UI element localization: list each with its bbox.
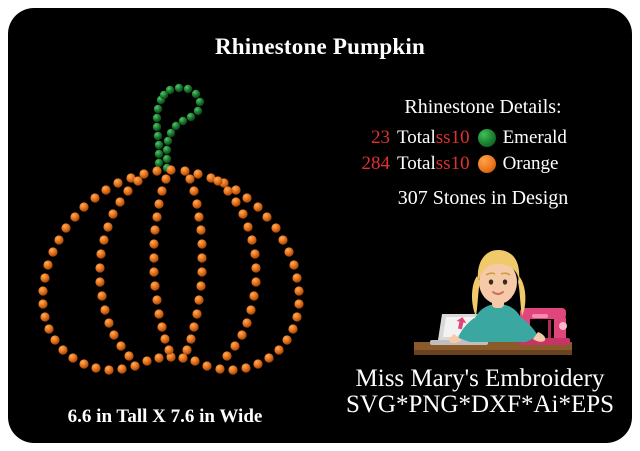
stone-row: 284 Total ss10 Orange [338, 153, 628, 175]
product-card: Rhinestone Pumpkin [8, 8, 632, 443]
stone-count: 23 [346, 127, 390, 149]
design-size-label: 6.6 in Tall X 7.6 in Wide [40, 406, 290, 428]
brand-block: Miss Mary's Embroidery SVG*PNG*DXF*Ai*EP… [330, 366, 630, 419]
details-heading: Rhinestone Details: [338, 96, 628, 119]
pumpkin-stem-stones [153, 84, 204, 172]
stone-row: 23 Total ss10 Emerald [338, 127, 628, 149]
stone-total-label: Total [397, 153, 436, 175]
stone-size: ss10 [436, 127, 470, 149]
stone-count: 284 [346, 153, 390, 175]
brand-name: Miss Mary's Embroidery [330, 366, 630, 392]
orange-stone-swatch-icon [478, 155, 496, 173]
rhinestone-pumpkin-artwork [18, 78, 338, 398]
total-stones-label: 307 Stones in Design [338, 187, 628, 210]
stone-total-label: Total [397, 127, 436, 149]
emerald-stone-swatch-icon [478, 129, 496, 147]
poster-image: Rhinestone Pumpkin [0, 0, 640, 451]
stone-color-name: Orange [503, 153, 559, 175]
rhinestone-details-panel: Rhinestone Details: 23 Total ss10 Emeral… [338, 96, 628, 210]
stone-size: ss10 [436, 153, 470, 175]
seamstress-illustration [408, 230, 578, 375]
brand-file-formats: SVG*PNG*DXF*Ai*EPS [330, 392, 630, 418]
stone-color-name: Emerald [503, 127, 567, 149]
page-title: Rhinestone Pumpkin [8, 34, 632, 60]
pumpkin-body-stones [38, 165, 303, 374]
